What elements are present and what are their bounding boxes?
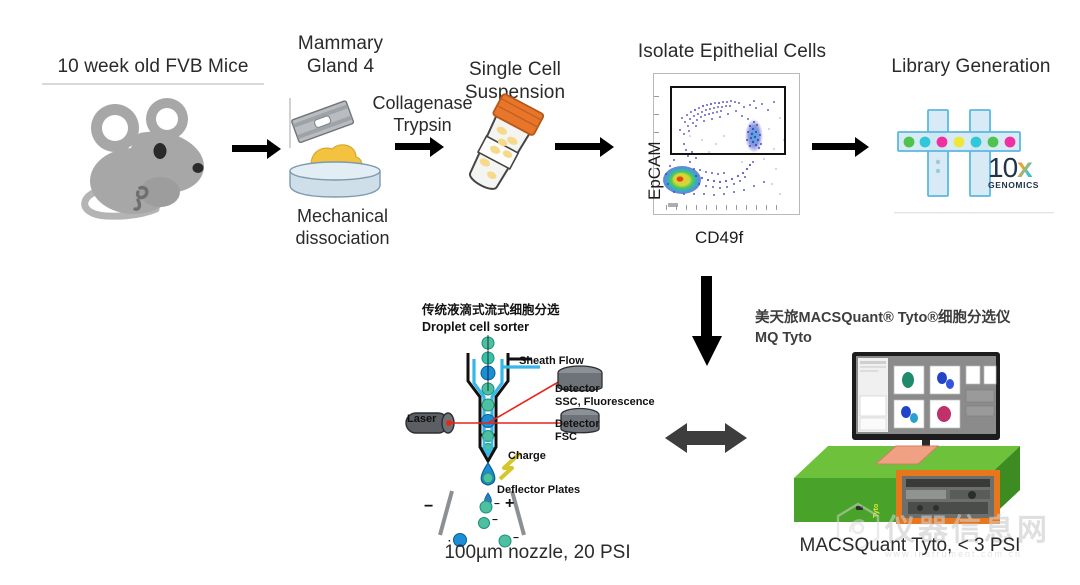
- sorter-caption: 100µm nozzle, 20 PSI: [400, 542, 675, 564]
- epithelial-gate: [670, 86, 786, 155]
- figure-canvas: 10 week old FVB Mice: [0, 0, 1080, 585]
- caption-line1: Mechanical: [270, 205, 415, 227]
- macsquant-tyto-instrument: Tyto: [790, 350, 1050, 530]
- step-heading-gland: Mammary Gland 4: [268, 32, 413, 78]
- tenx-logo-subtitle: GENOMICS: [988, 180, 1039, 190]
- flow-x-axis-label: CD49f: [695, 228, 743, 248]
- instrument-title-chinese: 美天旅MACSQuant® Tyto®细胞分选仪: [755, 308, 1045, 328]
- instrument-body: Tyto: [794, 446, 1020, 524]
- step-heading-mice: 10 week old FVB Mice: [28, 55, 278, 85]
- svg-text:−: −: [494, 499, 500, 510]
- tenx-logo-number: 10: [988, 152, 1017, 183]
- tenx-chip-card: 10x GENOMICS: [884, 96, 1066, 216]
- label-sheath-flow: Sheath Flow: [519, 355, 584, 368]
- label-plate-plus: +: [505, 495, 514, 513]
- conical-tube-icon: [455, 92, 545, 212]
- label-charge: Charge: [508, 450, 546, 463]
- flow-cytometry-plot: [653, 73, 800, 215]
- svg-text:−: −: [492, 515, 498, 526]
- sorter-title-cn: 传统液滴式流式细胞分选: [422, 303, 562, 318]
- step-heading-library: Library Generation: [862, 55, 1080, 78]
- sorter-title-chinese: 传统液滴式流式细胞分选: [422, 303, 562, 318]
- mechanical-dissociation-caption: Mechanical dissociation: [270, 205, 415, 249]
- label-plate-minus: −: [424, 498, 433, 516]
- gland-heading-line1: Mammary: [268, 32, 413, 55]
- step-heading-isolate: Isolate Epithelial Cells: [622, 40, 842, 63]
- deflector-plate-minus: [440, 491, 452, 535]
- mouse-illustration: [48, 88, 228, 228]
- label-detector-fsc-2: FSC: [555, 431, 577, 444]
- sorter-title-english: Droplet cell sorter: [422, 320, 529, 335]
- label-detector-fsc-1: Detector: [555, 418, 600, 431]
- gland-heading-line2: Gland 4: [268, 55, 413, 78]
- petri-dish-icon: [282, 133, 388, 204]
- caption-line2: dissociation: [270, 227, 415, 249]
- arrow-double-compare: [665, 418, 747, 463]
- label-laser: Laser: [407, 413, 436, 426]
- instrument-caption: MACSQuant Tyto, < 3 PSI: [760, 535, 1060, 557]
- flow-y-axis-label: EpCAM: [645, 141, 665, 200]
- tenx-logo-x: x: [1017, 152, 1032, 183]
- label-detector-ssc-1: Detector: [555, 383, 600, 396]
- arrow-down-to-sorting: [690, 276, 724, 373]
- instrument-title-english: MQ Tyto: [755, 328, 1045, 348]
- label-detector-ssc-2: SSC, Fluorescence: [555, 396, 655, 409]
